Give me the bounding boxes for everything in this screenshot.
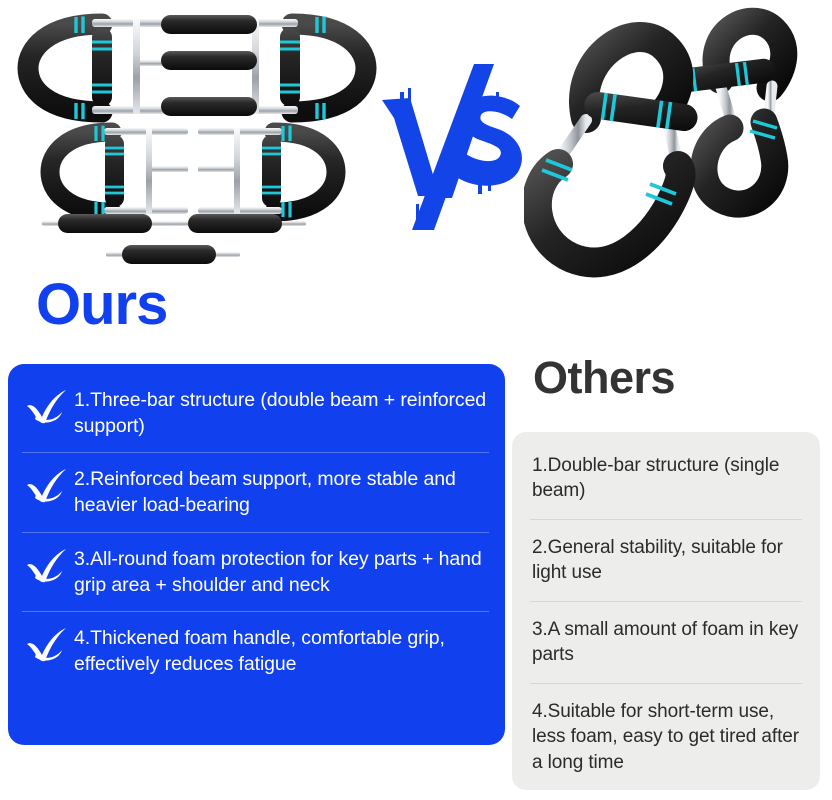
check-swoosh-icon [24, 627, 68, 663]
list-item-text: 1.Three-bar structure (double beam + rei… [74, 387, 487, 439]
ours-feature-list: 1.Three-bar structure (double beam + rei… [22, 374, 489, 691]
list-item: 4.Thickened foam handle, comfortable gri… [22, 611, 489, 690]
list-item-text: 2.Reinforced beam support, more stable a… [74, 466, 487, 518]
left-product-image [6, 2, 384, 274]
list-item: 3.All-round foam protection for key part… [22, 532, 489, 611]
others-feature-list: 1.Double-bar structure (single beam) 2.G… [530, 438, 802, 790]
vs-brush-badge-icon [378, 62, 526, 232]
hero-comparison-image [0, 0, 832, 282]
others-heading: Others [533, 355, 675, 400]
list-item: 2.General stability, suitable for light … [530, 519, 802, 601]
check-swoosh-icon [24, 468, 68, 504]
list-item: 1.Double-bar structure (single beam) [530, 438, 802, 519]
list-item: 3.A small amount of foam in key parts [530, 601, 802, 683]
list-item: 2.Reinforced beam support, more stable a… [22, 452, 489, 531]
ours-heading: Ours [36, 276, 167, 334]
list-item-text: 4.Thickened foam handle, comfortable gri… [74, 625, 487, 677]
right-product-image [524, 0, 828, 282]
ours-panel: 1.Three-bar structure (double beam + rei… [8, 364, 505, 745]
list-item: 4.Suitable for short-term use, less foam… [530, 683, 802, 790]
check-swoosh-icon [24, 548, 68, 584]
list-item: 1.Three-bar structure (double beam + rei… [22, 374, 489, 452]
list-item-text: 3.All-round foam protection for key part… [74, 546, 487, 598]
check-swoosh-icon [24, 389, 68, 425]
others-panel: 1.Double-bar structure (single beam) 2.G… [512, 432, 820, 790]
